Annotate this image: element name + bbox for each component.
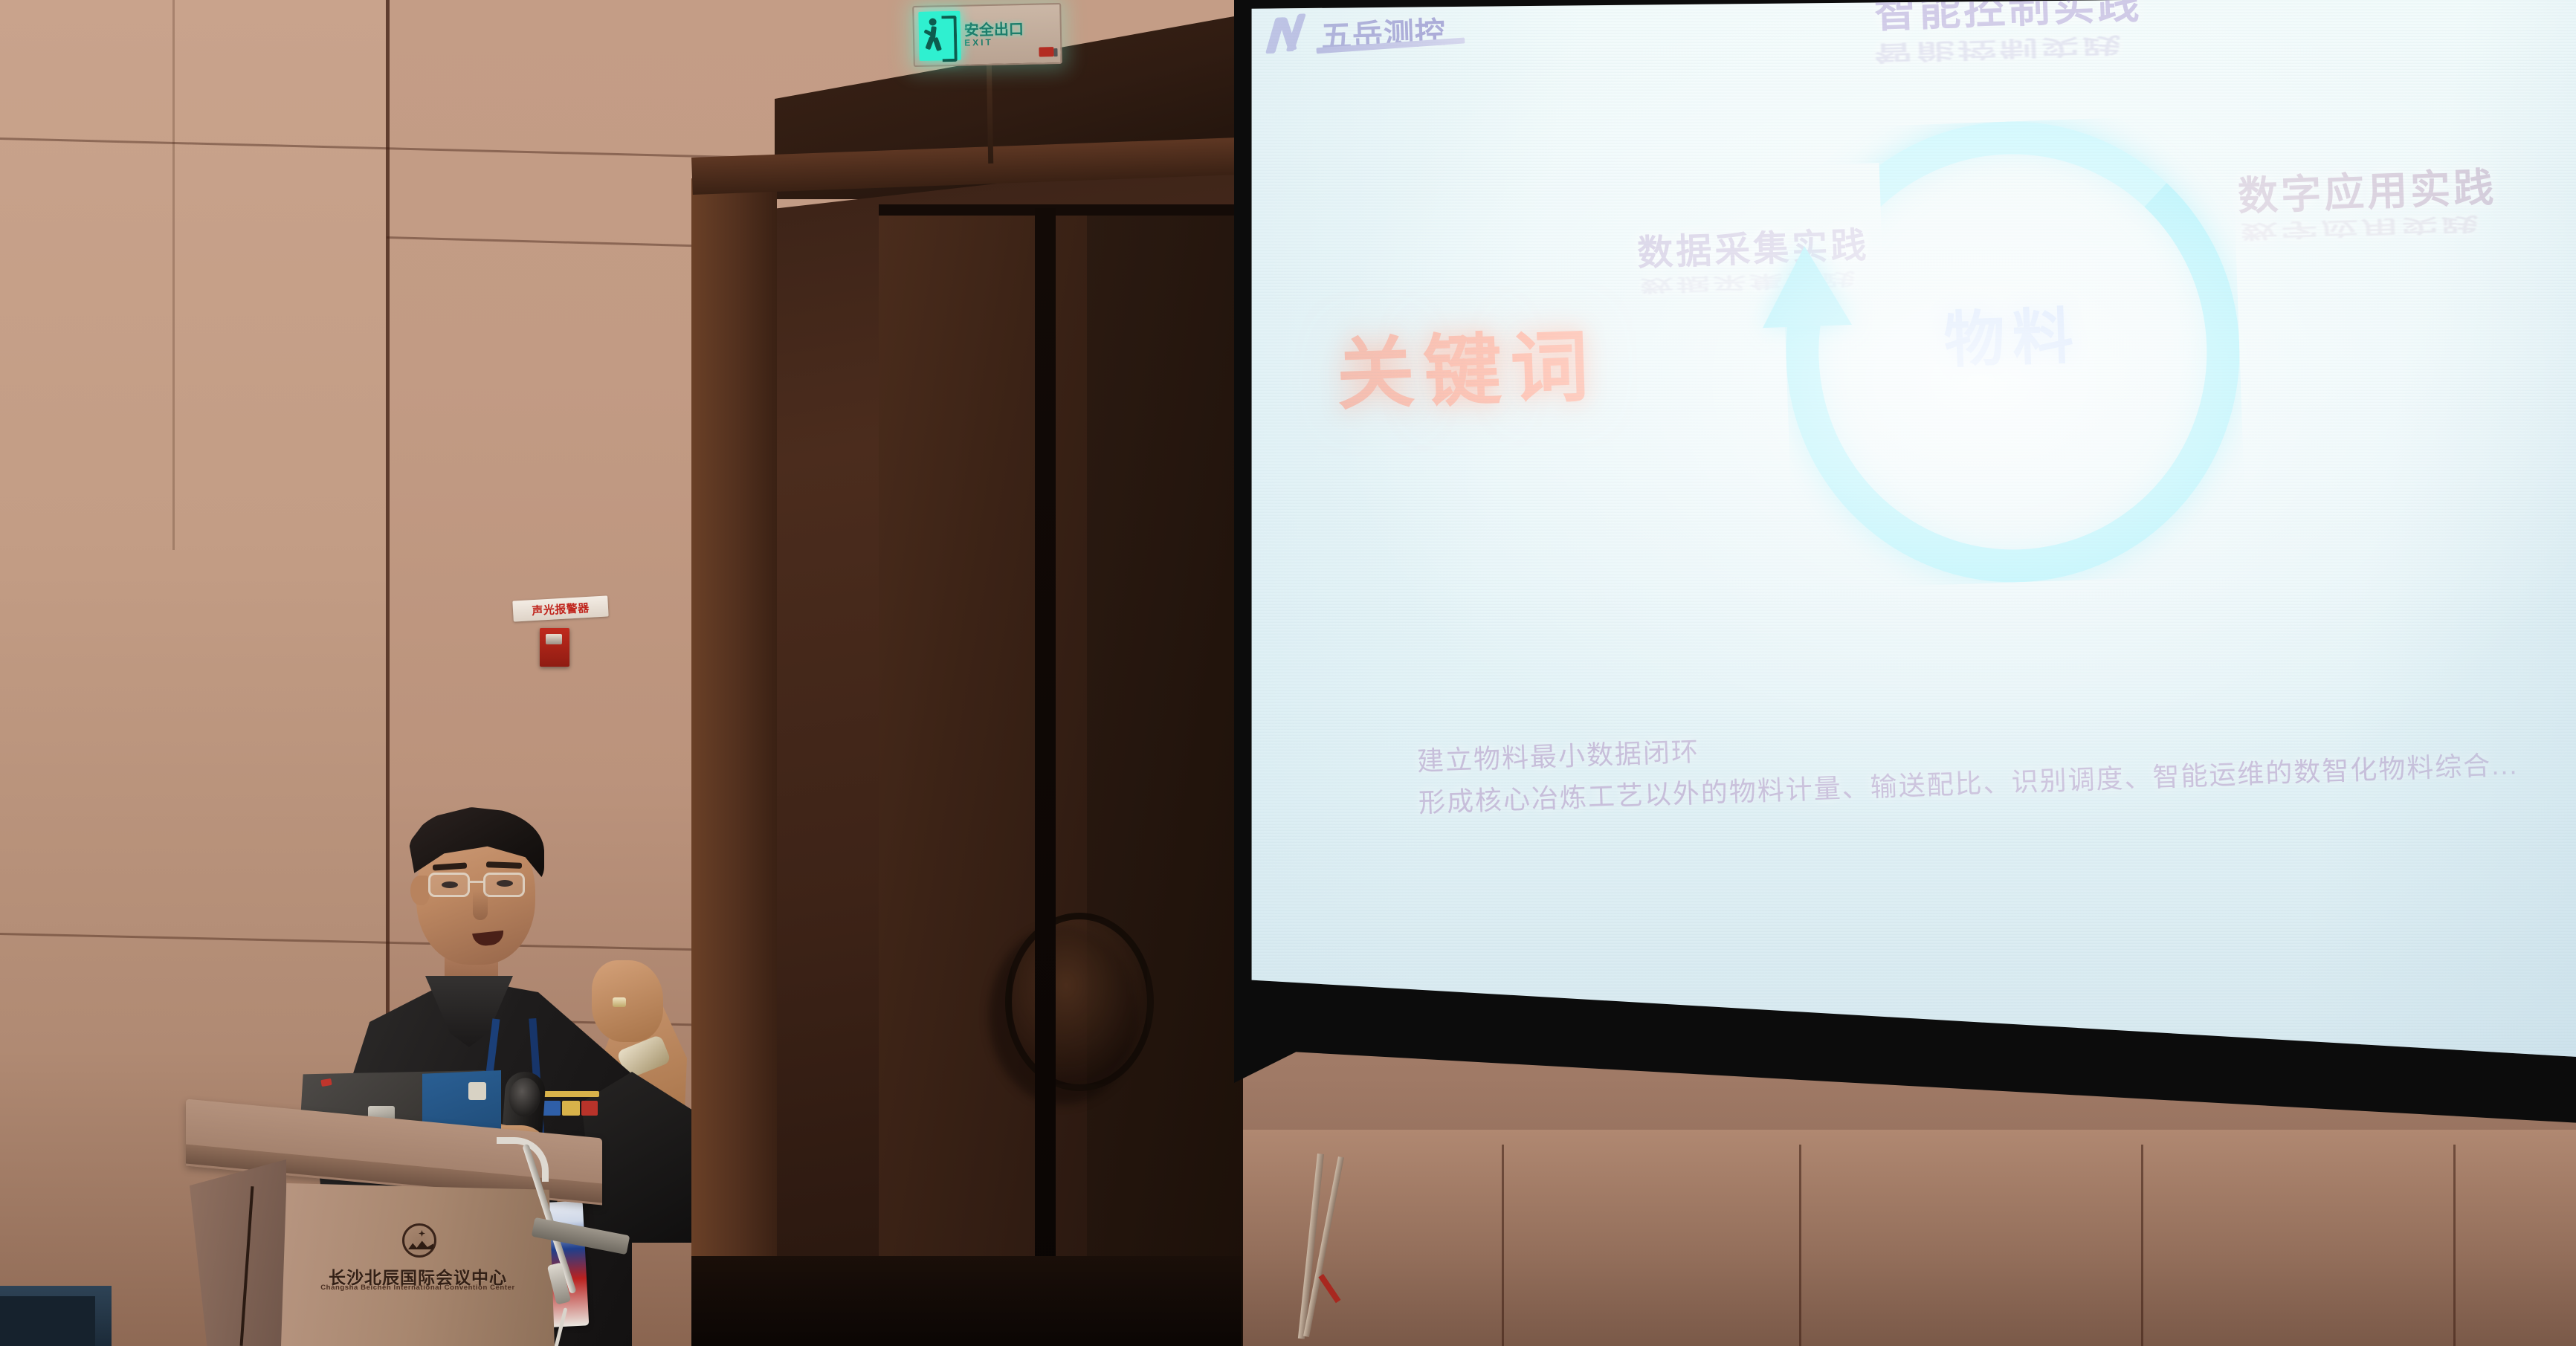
door-leaf-secondary[interactable]: [1087, 216, 1243, 1346]
wall-seam: [2141, 1145, 2143, 1346]
exit-sign-badge: [1039, 47, 1053, 56]
podium-side-panel: [190, 1159, 286, 1346]
exit-sign-label-en: EXIT: [964, 37, 1024, 48]
wuyue-checkmark-logo-icon: [1268, 13, 1316, 56]
foreground-object-inner: [0, 1296, 95, 1346]
wall-seam: [172, 0, 175, 550]
exit-sign-label-cn: 安全出口: [964, 22, 1024, 39]
door-ring-handle-icon[interactable]: [1005, 913, 1154, 1091]
door-leaf[interactable]: [879, 216, 1087, 1346]
wall-seam: [1799, 1145, 1801, 1346]
running-man-exit-icon: [918, 11, 961, 61]
slide-heading: 关键词: [1334, 303, 1599, 425]
photograph-scene: 安全出口 EXIT 声光报警器 五岳测控 关键词 智能控制实践: [0, 0, 2576, 1346]
projection-screen: 五岳测控 关键词 智能控制实践 智能控制实践 数字应用实践 数字应用实践 数据采…: [1234, 0, 2576, 1133]
floor-shadow: [691, 1256, 1242, 1346]
mountain-star-logo-icon: [402, 1223, 436, 1258]
wall-seam: [2453, 1145, 2456, 1346]
cycle-center-label: 物料: [1784, 281, 2241, 385]
exit-sign-badge-secondary: [1053, 48, 1057, 56]
podium-venue-name-en: Changsha Beichen International Conventio…: [314, 1284, 522, 1292]
alarm-device-icon: [540, 628, 569, 667]
speaker-ear: [410, 876, 430, 905]
door-gap: [1035, 208, 1056, 1346]
alarm-sign-text: 声光报警器: [532, 599, 590, 618]
wall-seam: [1502, 1145, 1504, 1346]
ring-icon: [613, 997, 626, 1007]
screen-surface: 五岳测控 关键词 智能控制实践 智能控制实践 数字应用实践 数字应用实践 数据采…: [1249, 0, 2576, 1096]
speaker-right-hand: [592, 960, 663, 1042]
slide-content: 五岳测控 关键词 智能控制实践 智能控制实践 数字应用实践 数字应用实践 数据采…: [1249, 0, 2576, 1095]
circular-arrow-icon: 物料: [1778, 114, 2247, 590]
slide-body-copy: 建立物料最小数据闭环 形成核心冶炼工艺以外的物料计量、输送配比、识别调度、智能运…: [1416, 700, 2576, 824]
exit-sign: 安全出口 EXIT: [912, 3, 1062, 67]
speaker-nose: [473, 890, 488, 920]
speaker-eyebrow: [486, 861, 522, 869]
right-wall-lower-panel: [1234, 1130, 2576, 1346]
